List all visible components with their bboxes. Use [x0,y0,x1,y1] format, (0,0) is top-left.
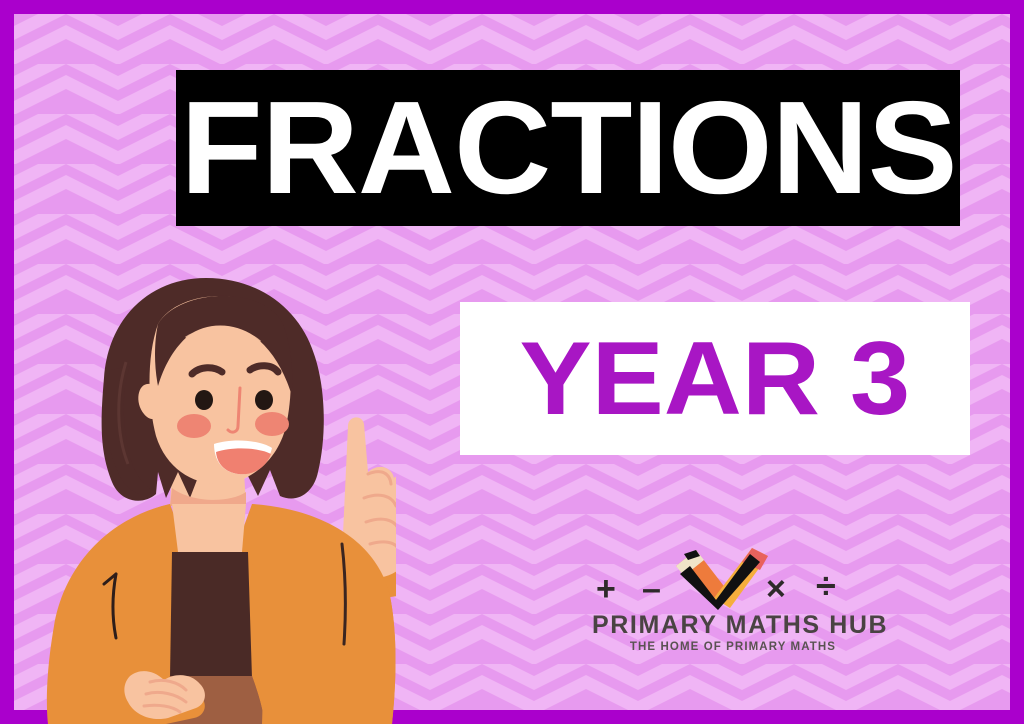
logo-symbol-row: + – × ÷ [592,548,874,610]
page-title: FRACTIONS [180,82,956,214]
title-banner: FRACTIONS [176,70,960,226]
year-label: YEAR 3 [520,327,911,431]
minus-icon: – [642,572,661,606]
logo-tagline: THE HOME OF PRIMARY MATHS [592,641,874,653]
slide-root: FRACTIONS YEAR 3 + – × ÷ [0,0,1024,724]
year-banner: YEAR 3 [460,302,970,455]
pencil-tick-icon [674,548,770,610]
logo-brand-name: PRIMARY MATHS HUB [592,612,874,638]
primary-maths-hub-logo: + – × ÷ PRIMARY MATHS HUB THE HOME OF PR… [592,548,874,660]
plus-icon: + [596,572,616,606]
teacher-illustration [46,266,396,724]
divide-icon: ÷ [816,568,836,604]
